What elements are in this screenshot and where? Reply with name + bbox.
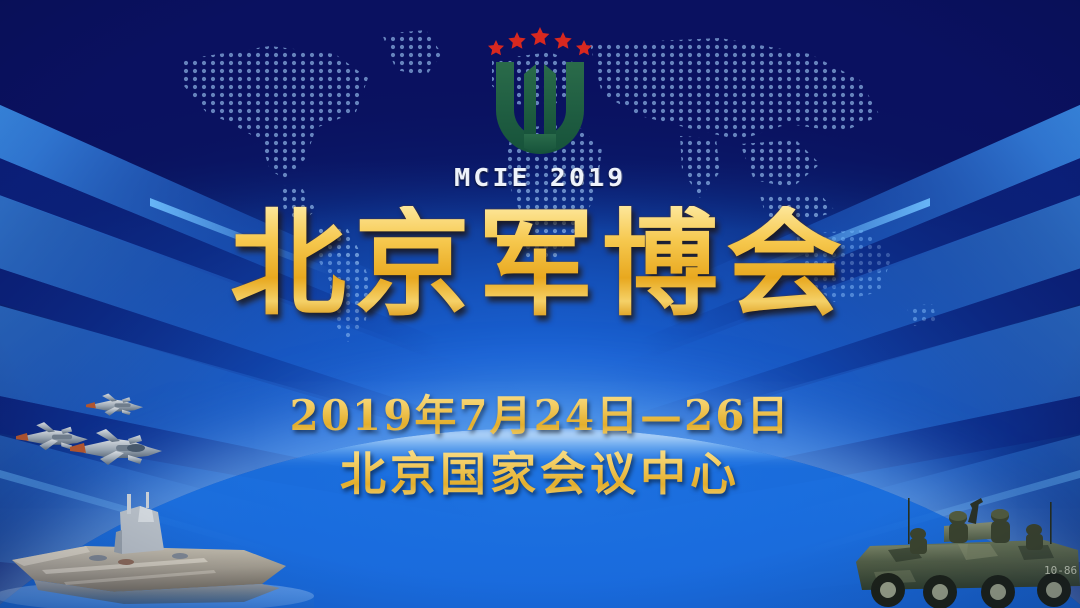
aircraft-carrier-image [0,492,314,608]
logo-block: MCIE 2019 [0,24,1080,192]
armored-vehicle-image: 10-86 [848,492,1080,608]
fighter-jets-image [8,383,213,495]
star-icon [488,40,504,55]
five-stars-group [484,24,596,58]
mcie-emblem-icon [480,56,600,160]
svg-text:10-86: 10-86 [1044,564,1077,577]
page-title: 北京军博会 [0,206,1080,322]
logo-wordmark: MCIE 2019 [454,163,626,192]
star-icon [531,27,550,45]
poster-canvas: MCIE 2019 北京军博会 2019年7月24日—26日 北京国家会议中心 [0,0,1080,608]
star-icon [554,32,571,49]
star-icon [576,40,592,55]
star-icon [508,32,525,49]
